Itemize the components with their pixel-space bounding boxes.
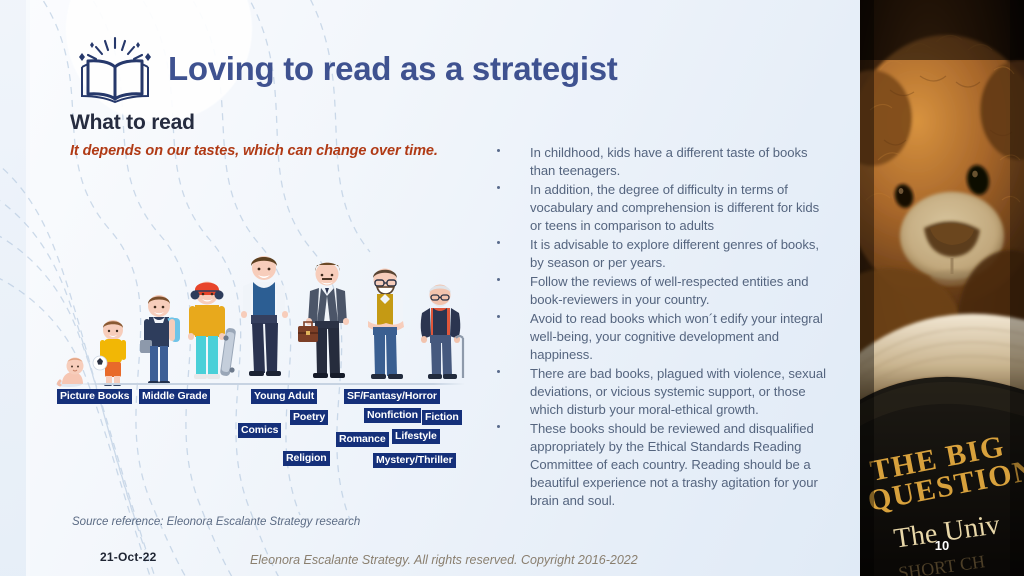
bullet-item: It is advisable to explore different gen… [494,236,830,272]
slide-canvas: Loving to read as a strategist What to r… [0,0,1024,576]
source-reference: Source reference: Eleonora Escalante Str… [72,516,360,528]
bullet-list: In childhood, kids have a different tast… [494,144,830,511]
figure-businessman [298,263,349,379]
page-number: 10 [860,538,1024,553]
bullet-item: These books should be reviewed and disqu… [494,420,830,510]
genre-tag: Nonfiction [364,408,421,423]
figure-toddler [93,320,126,386]
genre-tag: Religion [283,451,330,466]
genre-tag: Lifestyle [392,429,440,444]
bullet-text: In addition, the degree of difficulty in… [530,182,819,233]
bullet-text: Avoid to read books which won´t edify yo… [530,311,823,362]
bullet-item: In childhood, kids have a different tast… [494,144,830,180]
figure-teen [188,282,236,380]
copyright-notice: Eleonora Escalante Strategy. All rights … [250,553,638,567]
bullet-marker-icon [497,278,500,281]
teddy-bear-reading-photo: THE BIG QUESTION The Univ SHORT CH [860,0,1024,576]
figure-schoolboy [140,295,180,385]
page-title: Loving to read as a strategist [168,50,617,88]
genre-tag: Middle Grade [139,389,210,404]
illustration-ground-line [75,383,465,385]
bullet-item: There are bad books, plagued with violen… [494,365,830,419]
genre-tag: Mystery/Thriller [373,453,456,468]
bullet-text: It is advisable to explore different gen… [530,237,819,270]
genre-tag: Poetry [290,410,328,425]
slide-date: 21-Oct-22 [100,550,157,564]
genre-tag: Romance [336,432,389,447]
bullet-marker-icon [497,186,500,189]
figure-middle-aged-man [367,269,404,380]
bullet-marker-icon [497,425,500,428]
bullet-marker-icon [497,149,500,152]
genre-tag: Young Adult [251,389,317,404]
open-book-icon [72,36,158,104]
genre-tag: Picture Books [57,389,132,404]
section-subheading: What to read [70,111,195,135]
bullet-marker-icon [497,315,500,318]
ages-of-man-illustration [55,238,475,390]
figure-elderly-man [421,285,463,380]
bullet-marker-icon [497,370,500,373]
bullet-text: In childhood, kids have a different tast… [530,145,808,178]
bullet-text: Follow the reviews of well-respected ent… [530,274,808,307]
bullet-item: Avoid to read books which won´t edify yo… [494,310,830,364]
bullet-text: There are bad books, plagued with violen… [530,366,826,417]
genre-tag: Comics [238,423,281,438]
bullet-text: These books should be reviewed and disqu… [530,421,818,508]
bullet-item: In addition, the degree of difficulty in… [494,181,830,235]
genre-tag: Fiction [422,410,462,425]
bullet-marker-icon [497,241,500,244]
bullet-item: Follow the reviews of well-respected ent… [494,273,830,309]
section-tagline: It depends on our tastes, which can chan… [70,143,438,159]
genre-tag: SF/Fantasy/Horror [344,389,440,404]
figure-young-man [241,256,288,376]
